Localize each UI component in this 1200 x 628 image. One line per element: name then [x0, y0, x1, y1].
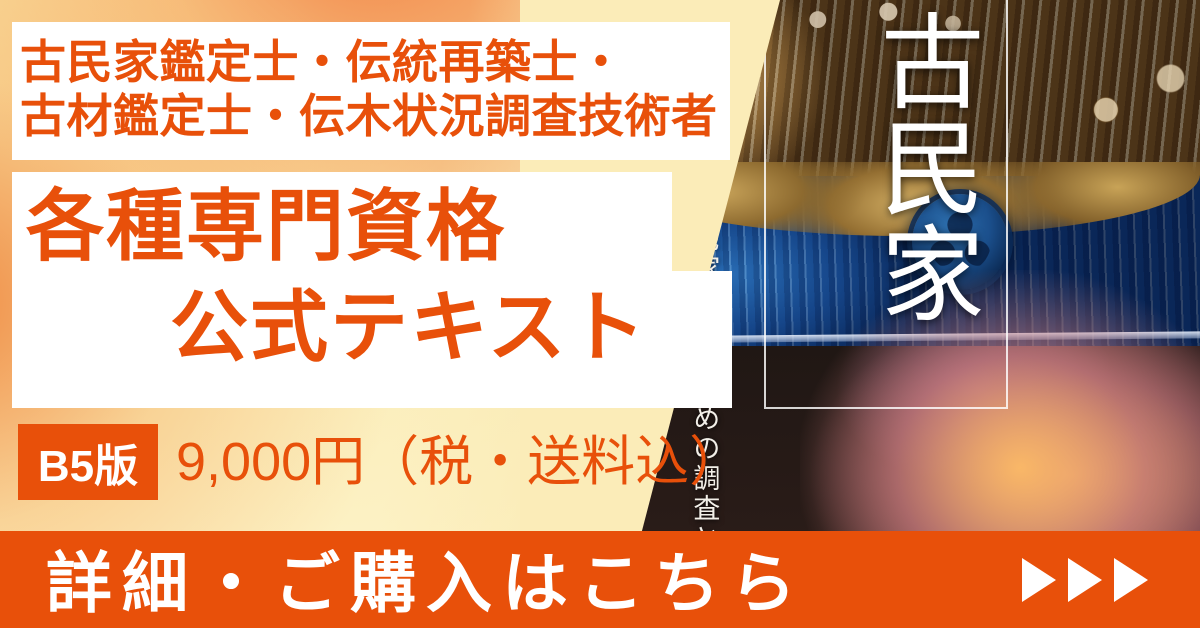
headline-line-2: 古材鑑定士・伝木状況調査技術者 [20, 88, 720, 146]
price-text: 9,000円（税・送料込） [176, 430, 743, 495]
chevron-right-icon [1022, 558, 1056, 602]
cta-arrows [1022, 558, 1148, 602]
promo-banner: 古民家 伝統構法、古民家活用のための調査と再生の 古民家鑑定士・伝統再築士・ 古… [0, 0, 1200, 628]
cta-label: 詳細・ご購入はこちら [46, 530, 806, 626]
title-line-2: 公式テキスト [170, 288, 648, 366]
title-line-1: 各種専門資格 [26, 187, 506, 265]
cta-bar[interactable]: 詳細・ご購入はこちら [0, 531, 1200, 628]
cover-title: 古民家 [784, 8, 984, 326]
format-badge: B5版 [18, 424, 158, 500]
headline-line-1: 古民家鑑定士・伝統再築士・ [20, 34, 720, 92]
chevron-right-icon [1068, 558, 1102, 602]
chevron-right-icon [1114, 558, 1148, 602]
